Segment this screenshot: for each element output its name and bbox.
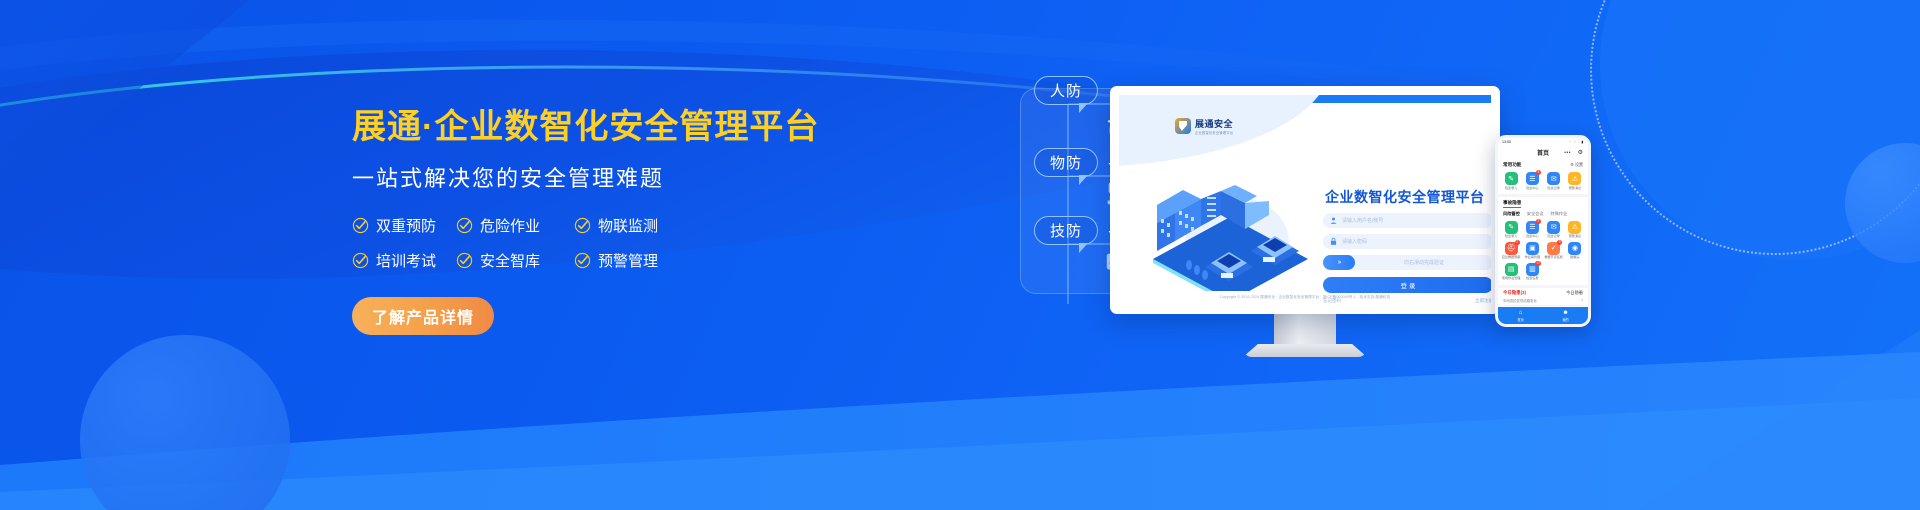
phone-hazard-grid: ✎ 隐患录入 ☰ 3 隐患中心 ✉ 隐患记录 ⚠ 预警消息 ⛑ 2 — [1498, 218, 1588, 285]
tile-icon: ✉ — [1547, 221, 1560, 234]
app-tile[interactable]: ⚠ 预警消息 — [1565, 221, 1585, 239]
app-tile[interactable]: ✎ 隐患录入 — [1501, 221, 1521, 239]
phone-navbar: 首页 ••• ⚙ — [1498, 146, 1588, 159]
tab-special-work[interactable]: 特殊作业 — [1551, 211, 1568, 217]
tile-icon: ⛑ 2 — [1505, 242, 1518, 255]
page-title: 展通·企业数智化安全管理平台 — [352, 108, 822, 147]
decorative-circle-bottom-left — [80, 335, 290, 510]
feature-label: 危险作业 — [480, 215, 540, 236]
tab-risk[interactable]: 风险管控 — [1503, 211, 1520, 217]
check-circle-icon — [574, 217, 591, 234]
tile-icon: ▥ 12 — [1526, 263, 1539, 276]
check-circle-icon — [574, 252, 591, 269]
tile-label: 应急救援预案 — [1502, 256, 1521, 259]
badge-count: 12 — [1535, 261, 1541, 266]
feature-item: 安全智库 — [456, 250, 574, 271]
tile-icon: ✓ 5 — [1547, 242, 1560, 255]
tile-label: 隐患录入 — [1505, 235, 1517, 238]
decorative-dotted-ring — [1590, 0, 1920, 255]
status-time: 13:50 — [1502, 140, 1511, 144]
pillar-label: 物防 — [1050, 152, 1082, 173]
gear-icon[interactable]: ⚙ — [1578, 149, 1583, 156]
tile-label: 预警消息 — [1569, 187, 1581, 190]
tile-label: 现场作业管理 — [1502, 277, 1521, 280]
tabbar-label: 首页 — [1517, 317, 1523, 322]
decorative-circle-large — [1600, 0, 1920, 260]
tile-icon: ◉ — [1568, 242, 1581, 255]
banner-copy: 展通·企业数智化安全管理平台 一站式解决您的安全管理难题 双重预防 危险作业 — [352, 108, 822, 335]
tile-label: 隐患记录 — [1547, 235, 1559, 238]
promo-banner: 展通·企业数智化安全管理平台 一站式解决您的安全管理难题 双重预防 危险作业 — [0, 0, 1920, 510]
app-tile[interactable]: ▣ 作业票管理 — [1522, 242, 1542, 260]
password-placeholder: 请输入密码 — [1342, 238, 1367, 245]
login-page-screen: 展通安全 企业数智化安全管理平台 — [1119, 95, 1491, 305]
list-item-chevron: > — [1581, 298, 1583, 302]
app-tile[interactable]: ⚠ 预警消息 — [1565, 172, 1585, 190]
logo-text: 展通安全 — [1195, 117, 1233, 130]
pillar-label: 人防 — [1050, 80, 1082, 101]
badge-count: 3 — [1536, 219, 1541, 224]
section-settings-action[interactable]: ⚙ 设置 — [1570, 162, 1583, 168]
feature-label: 预警管理 — [598, 250, 658, 271]
feature-label: 培训考试 — [376, 250, 436, 271]
tile-icon: ⚠ — [1568, 172, 1581, 185]
tile-icon: ✎ — [1505, 221, 1518, 234]
tile-icon: ☰ 3 — [1526, 172, 1539, 185]
desktop-monitor-mockup: 展通安全 企业数智化安全管理平台 — [1110, 86, 1500, 357]
phone-tabs: 风险管控 安全会议 特殊作业 — [1498, 209, 1588, 218]
badge-count: 5 — [1557, 240, 1562, 245]
app-tile[interactable]: ✎ 隐患录入 — [1501, 172, 1521, 190]
captcha-hint: 向右滑动完成验证 — [1355, 259, 1491, 266]
feature-item: 双重预防 — [352, 215, 456, 236]
section-title: 事故隐患 — [1503, 200, 1521, 208]
username-field[interactable]: 请输入用户名/账号 — [1323, 213, 1491, 228]
app-tile[interactable]: ✉ 隐患记录 — [1544, 172, 1564, 190]
phone-common-grid: ✎ 隐患录入 ☰ 3 隐患中心 ✉ 隐患记录 ⚠ 预警消息 — [1498, 169, 1588, 194]
feature-label: 双重预防 — [376, 215, 436, 236]
feature-item: 培训考试 — [352, 250, 456, 271]
password-field[interactable]: 请输入密码 — [1323, 234, 1491, 249]
background-decoration — [0, 0, 1920, 510]
tile-icon: ▣ — [1526, 242, 1539, 255]
mobile-app-mockup: 13:50 ⁘ ⁙ ⁚ ▮ 首页 ••• ⚙ 常用功能 ⚙ 设置 ✎ 隐患录入 … — [1495, 135, 1591, 327]
tile-label: 重要节点任务 — [1544, 256, 1563, 259]
tile-label: 隐患记录 — [1547, 187, 1559, 190]
tile-label: 隐患中心 — [1526, 187, 1538, 190]
monitor-neck — [1274, 314, 1336, 344]
lock-icon — [1329, 237, 1338, 246]
app-tile[interactable]: ✉ 隐患记录 — [1544, 221, 1564, 239]
list-item-text: 车间巡检发现线路老化 — [1503, 298, 1537, 303]
captcha-slider-knob[interactable]: ›› — [1323, 255, 1355, 270]
home-icon: ⌂ — [1519, 310, 1523, 316]
feature-list: 双重预防 危险作业 物联监测 — [352, 215, 822, 271]
phone-section-hazard: 事故隐患 — [1498, 197, 1588, 209]
tile-label: 隐患中心 — [1526, 235, 1538, 238]
phone-tabbar: ⌂ 首页 ☻ 我的 — [1498, 307, 1588, 324]
login-form-title: 企业数智化安全管理平台 — [1325, 187, 1485, 207]
logo-subtext: 企业数智化安全管理平台 — [1195, 130, 1233, 135]
slider-captcha[interactable]: ›› 向右滑动完成验证 — [1323, 255, 1491, 270]
tile-icon: ✉ — [1547, 172, 1560, 185]
tile-icon: ⚠ — [1568, 221, 1581, 234]
login-button[interactable]: 登 录 — [1323, 277, 1491, 293]
decorative-circle-small — [1845, 143, 1920, 263]
logo-mark-icon — [1175, 118, 1191, 134]
tile-icon: ▤ — [1505, 263, 1518, 276]
pillar-renfang[interactable]: 人防 — [1034, 76, 1098, 105]
phone-nav-title: 首页 — [1537, 148, 1549, 157]
feature-label: 安全智库 — [480, 250, 540, 271]
app-tile[interactable]: ⛑ 2 应急救援预案 — [1501, 242, 1521, 260]
check-circle-icon — [352, 217, 369, 234]
monitor-screen-frame: 展通安全 企业数智化安全管理平台 — [1110, 86, 1500, 314]
more-icon[interactable]: ••• — [1564, 150, 1571, 156]
check-circle-icon — [456, 217, 473, 234]
screen-copyright: Copyright © 2019-2024 展通安全 · 企业数智化安全管理平台… — [1119, 295, 1491, 300]
isometric-city-illustration — [1145, 181, 1315, 291]
tabbar-label: 我的 — [1562, 317, 1568, 322]
user-icon — [1329, 216, 1338, 225]
tile-icon: ☰ 3 — [1526, 221, 1539, 234]
phone-section-common: 常用功能 ⚙ 设置 — [1498, 159, 1588, 169]
tile-label: 检查任务 — [1526, 277, 1538, 280]
username-placeholder: 请输入用户名/账号 — [1342, 217, 1383, 224]
learn-more-button[interactable]: 了解产品详情 — [352, 297, 494, 335]
list-header-right: 今日隐患 — [1566, 290, 1583, 296]
background-waves — [0, 0, 1920, 510]
tile-label: 摄像头 — [1570, 256, 1579, 259]
app-tile[interactable]: ▤ 现场作业管理 — [1501, 263, 1521, 281]
tile-icon: ✎ — [1505, 172, 1518, 185]
feature-item: 预警管理 — [574, 250, 684, 271]
feature-item: 物联监测 — [574, 215, 684, 236]
tabbar-item-home[interactable]: ⌂ 首页 — [1517, 310, 1523, 322]
pillar-jifang[interactable]: 技防 — [1034, 216, 1098, 245]
page-subtitle: 一站式解决您的安全管理难题 — [352, 161, 822, 193]
badge-count: 3 — [1536, 170, 1541, 175]
check-circle-icon — [352, 252, 369, 269]
app-tile[interactable]: ◉ 摄像头 — [1565, 242, 1585, 260]
phone-status-bar: 13:50 ⁘ ⁙ ⁚ ▮ — [1498, 138, 1588, 146]
brand-logo: 展通安全 企业数智化安全管理平台 — [1175, 117, 1233, 135]
badge-count: 2 — [1515, 240, 1520, 245]
tile-label: 作业票管理 — [1525, 256, 1540, 259]
pillar-wufang[interactable]: 物防 — [1034, 148, 1098, 177]
monitor-base — [1243, 344, 1367, 357]
feature-label: 物联监测 — [598, 215, 658, 236]
section-title: 常用功能 — [1503, 162, 1521, 168]
tile-label: 隐患录入 — [1505, 187, 1517, 190]
app-tile[interactable]: ☰ 3 隐患中心 — [1522, 172, 1542, 190]
tab-meeting[interactable]: 安全会议 — [1527, 211, 1544, 217]
app-tile[interactable]: ☰ 3 隐患中心 — [1522, 221, 1542, 239]
feature-item: 危险作业 — [456, 215, 574, 236]
app-tile[interactable]: ▥ 12 检查任务 — [1522, 263, 1542, 281]
tabbar-item-profile[interactable]: ☻ 我的 — [1562, 310, 1568, 322]
status-indicators: ⁘ ⁙ ⁚ ▮ — [1568, 140, 1584, 144]
user-icon: ☻ — [1562, 310, 1568, 316]
tile-label: 预警消息 — [1569, 235, 1581, 238]
app-tile[interactable]: ✓ 5 重要节点任务 — [1544, 242, 1564, 260]
pillar-label: 技防 — [1050, 220, 1082, 241]
check-circle-icon — [456, 252, 473, 269]
list-title: 今日隐患(3) — [1503, 290, 1526, 296]
list-item[interactable]: 车间巡检发现线路老化 > — [1503, 296, 1583, 306]
